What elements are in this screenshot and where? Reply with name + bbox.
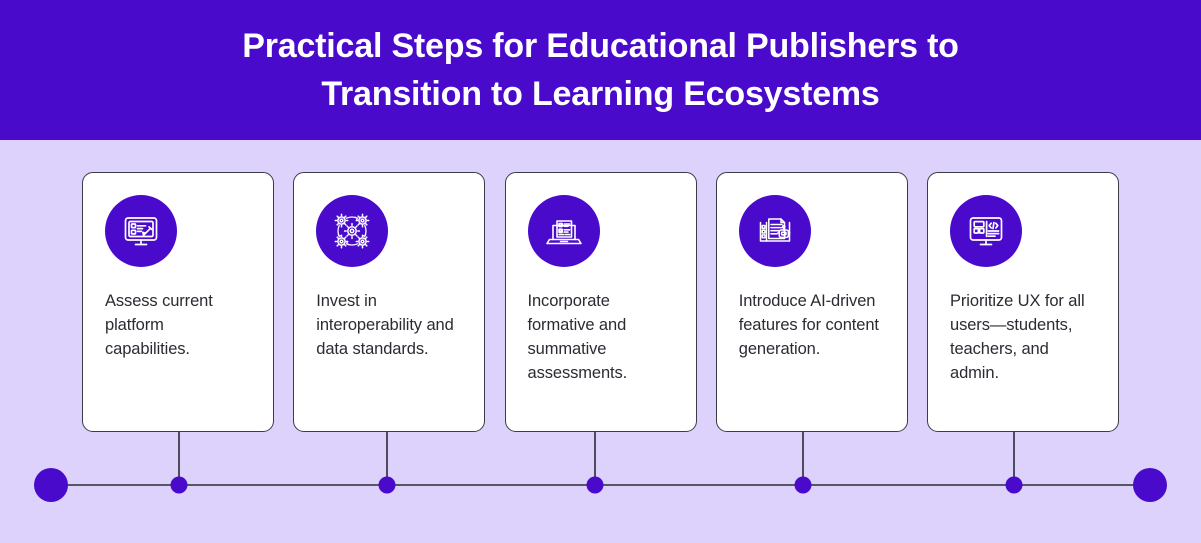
document-robot-icon: [755, 211, 795, 251]
step-card-1[interactable]: Assess current platform capabilities.: [82, 172, 274, 432]
step-icon-badge-4: [739, 195, 811, 267]
timeline-node-5: [1006, 477, 1023, 494]
timeline-start-endpoint: [34, 468, 68, 502]
monitor-checklist-icon: [121, 211, 161, 251]
timeline-end-endpoint: [1133, 468, 1167, 502]
page-title: Practical Steps for Educational Publishe…: [151, 22, 1051, 118]
step-icon-badge-5: [950, 195, 1022, 267]
connected-gears-icon: [332, 211, 372, 251]
step-icon-badge-3: [528, 195, 600, 267]
step-card-4[interactable]: Introduce AI-driven features for content…: [716, 172, 908, 432]
step-card-3[interactable]: Incorporate formative and summative asse…: [505, 172, 697, 432]
timeline-node-3: [587, 477, 604, 494]
monitor-code-layout-icon: [966, 211, 1006, 251]
steps-row: Assess current platform capabilities.: [82, 172, 1119, 432]
step-card-2[interactable]: Invest in interoperability and data stan…: [293, 172, 485, 432]
step-text-5: Prioritize UX for all users—students, te…: [950, 289, 1098, 385]
header-band: Practical Steps for Educational Publishe…: [0, 0, 1201, 140]
infographic-root: Practical Steps for Educational Publishe…: [0, 0, 1201, 543]
step-text-2: Invest in interoperability and data stan…: [316, 289, 464, 361]
step-icon-badge-1: [105, 195, 177, 267]
laptop-assessment-icon: [544, 211, 584, 251]
step-icon-badge-2: [316, 195, 388, 267]
step-text-3: Incorporate formative and summative asse…: [528, 289, 676, 385]
timeline-node-1: [171, 477, 188, 494]
timeline-node-2: [379, 477, 396, 494]
timeline-node-4: [795, 477, 812, 494]
step-text-4: Introduce AI-driven features for content…: [739, 289, 887, 361]
step-card-5[interactable]: Prioritize UX for all users—students, te…: [927, 172, 1119, 432]
step-text-1: Assess current platform capabilities.: [105, 289, 253, 361]
